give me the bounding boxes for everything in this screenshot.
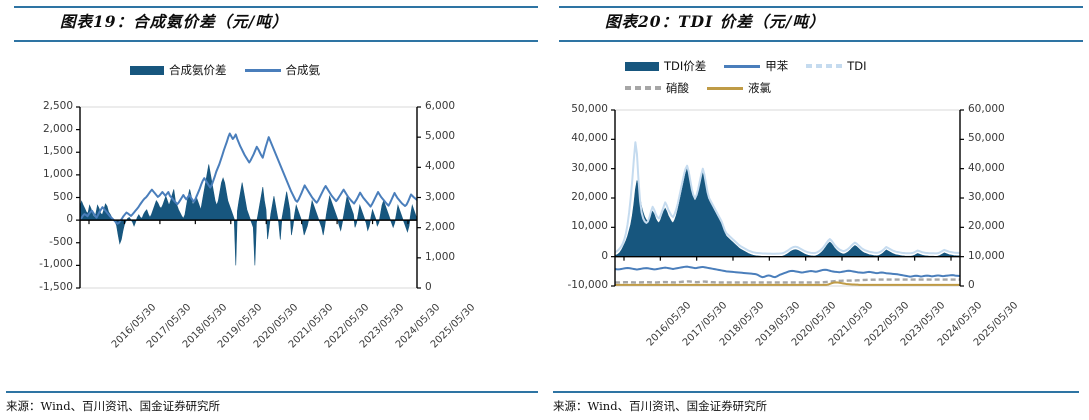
legend-item-合成氨[interactable]: 合成氨 — [245, 62, 321, 78]
panel-chart-20: 图表20：TDI 价差（元/吨） TDI价差甲苯TDI 硝酸液氯 50,0004… — [545, 0, 1089, 420]
legend-swatch-line-icon — [707, 87, 743, 90]
legend-item-硝酸[interactable]: 硝酸 — [625, 80, 689, 96]
legend-label: 合成氨价差 — [169, 62, 227, 78]
series-line-合成氨 — [80, 134, 417, 224]
footer-rule-19 — [6, 391, 538, 393]
y-axis-label-left: 40,000 — [571, 132, 608, 144]
legend-label: TDI价差 — [664, 58, 706, 74]
footer-rule-20 — [553, 391, 1079, 393]
y-axis-label-left: 0 — [66, 213, 73, 225]
y-axis-label-right: 4,000 — [425, 160, 455, 172]
series-line-甲苯 — [615, 267, 960, 278]
title-rule-bottom-20 — [559, 40, 1083, 42]
source-note-20: 来源：Wind、百川资讯、国金证券研究所 — [553, 398, 767, 414]
legend-label: 液氯 — [748, 80, 771, 96]
legend-item-合成氨价差[interactable]: 合成氨价差 — [130, 62, 227, 78]
legend-label: TDI — [847, 59, 866, 73]
plot-area-20: 50,00040,00030,00020,00010,0000-10,00060… — [545, 96, 1089, 376]
y-axis-label-right: 40,000 — [968, 162, 1005, 174]
chart-title-20: 图表20：TDI 价差（元/吨） — [605, 10, 825, 32]
legend-label: 硝酸 — [666, 80, 689, 96]
y-axis-label-right: 20,000 — [968, 220, 1005, 232]
y-axis-label-right: 6,000 — [425, 100, 455, 112]
figure-page: 图表19：合成氨价差（元/吨） 合成氨价差合成氨 2,5002,0001,500… — [0, 0, 1089, 420]
legend-19: 合成氨价差合成氨 — [130, 62, 338, 78]
y-axis-label-right: 5,000 — [425, 130, 455, 142]
y-axis-label-left: 1,500 — [43, 145, 73, 157]
legend-swatch-dashed-line-icon — [625, 86, 661, 90]
y-axis-label-left: 30,000 — [571, 162, 608, 174]
legend-swatch-line-icon — [245, 69, 281, 72]
title-block-20: 图表20：TDI 价差（元/吨） — [559, 6, 1083, 42]
legend-20-row2: 硝酸液氯 — [625, 80, 789, 96]
legend-20-row1: TDI价差甲苯TDI — [625, 58, 885, 74]
y-axis-label-left: 20,000 — [571, 191, 608, 203]
title-block-19: 图表19：合成氨价差（元/吨） — [14, 6, 538, 42]
legend-swatch-bar-icon — [130, 66, 164, 75]
y-axis-label-right: 50,000 — [968, 132, 1005, 144]
y-axis-label-left: 0 — [601, 250, 608, 262]
y-axis-label-right: 10,000 — [968, 250, 1005, 262]
legend-label: 甲苯 — [765, 58, 788, 74]
title-rule-top-20 — [559, 6, 1083, 8]
y-axis-label-left: -500 — [49, 236, 73, 248]
y-axis-label-left: -1,500 — [39, 281, 73, 293]
legend-swatch-bar-icon — [625, 62, 659, 71]
title-rule-bottom-19 — [14, 40, 538, 42]
y-axis-label-right: 3,000 — [425, 191, 455, 203]
y-axis-label-left: 50,000 — [571, 103, 608, 115]
y-axis-label-right: 0 — [425, 281, 432, 293]
y-axis-label-right: 2,000 — [425, 221, 455, 233]
series-area-TDI价差 — [615, 169, 960, 257]
y-axis-label-left: -10,000 — [567, 279, 608, 291]
legend-item-甲苯[interactable]: 甲苯 — [724, 58, 788, 74]
y-axis-label-right: 0 — [968, 279, 975, 291]
y-axis-label-left: 1,000 — [43, 168, 73, 180]
title-rule-top-19 — [14, 6, 538, 8]
source-note-19: 来源：Wind、百川资讯、国金证券研究所 — [6, 398, 220, 414]
y-axis-label-right: 1,000 — [425, 251, 455, 263]
legend-item-液氯[interactable]: 液氯 — [707, 80, 771, 96]
panel-chart-19: 图表19：合成氨价差（元/吨） 合成氨价差合成氨 2,5002,0001,500… — [0, 0, 544, 420]
y-axis-label-left: 500 — [53, 191, 73, 203]
y-axis-label-left: 2,500 — [43, 100, 73, 112]
legend-swatch-dashed-line-icon — [806, 64, 842, 68]
legend-swatch-line-icon — [724, 65, 760, 68]
y-axis-label-right: 60,000 — [968, 103, 1005, 115]
y-axis-label-left: 2,000 — [43, 123, 73, 135]
y-axis-label-left: -1,000 — [39, 258, 73, 270]
series-line-硝酸 — [615, 280, 960, 283]
plot-area-19: 2,5002,0001,5001,0005000-500-1,000-1,500… — [0, 96, 544, 376]
chart-canvas — [545, 96, 1089, 376]
legend-item-TDI价差[interactable]: TDI价差 — [625, 58, 706, 74]
y-axis-label-right: 30,000 — [968, 191, 1005, 203]
chart-title-19: 图表19：合成氨价差（元/吨） — [60, 10, 288, 32]
legend-item-TDI[interactable]: TDI — [806, 59, 866, 73]
legend-label: 合成氨 — [286, 62, 321, 78]
y-axis-label-left: 10,000 — [571, 220, 608, 232]
